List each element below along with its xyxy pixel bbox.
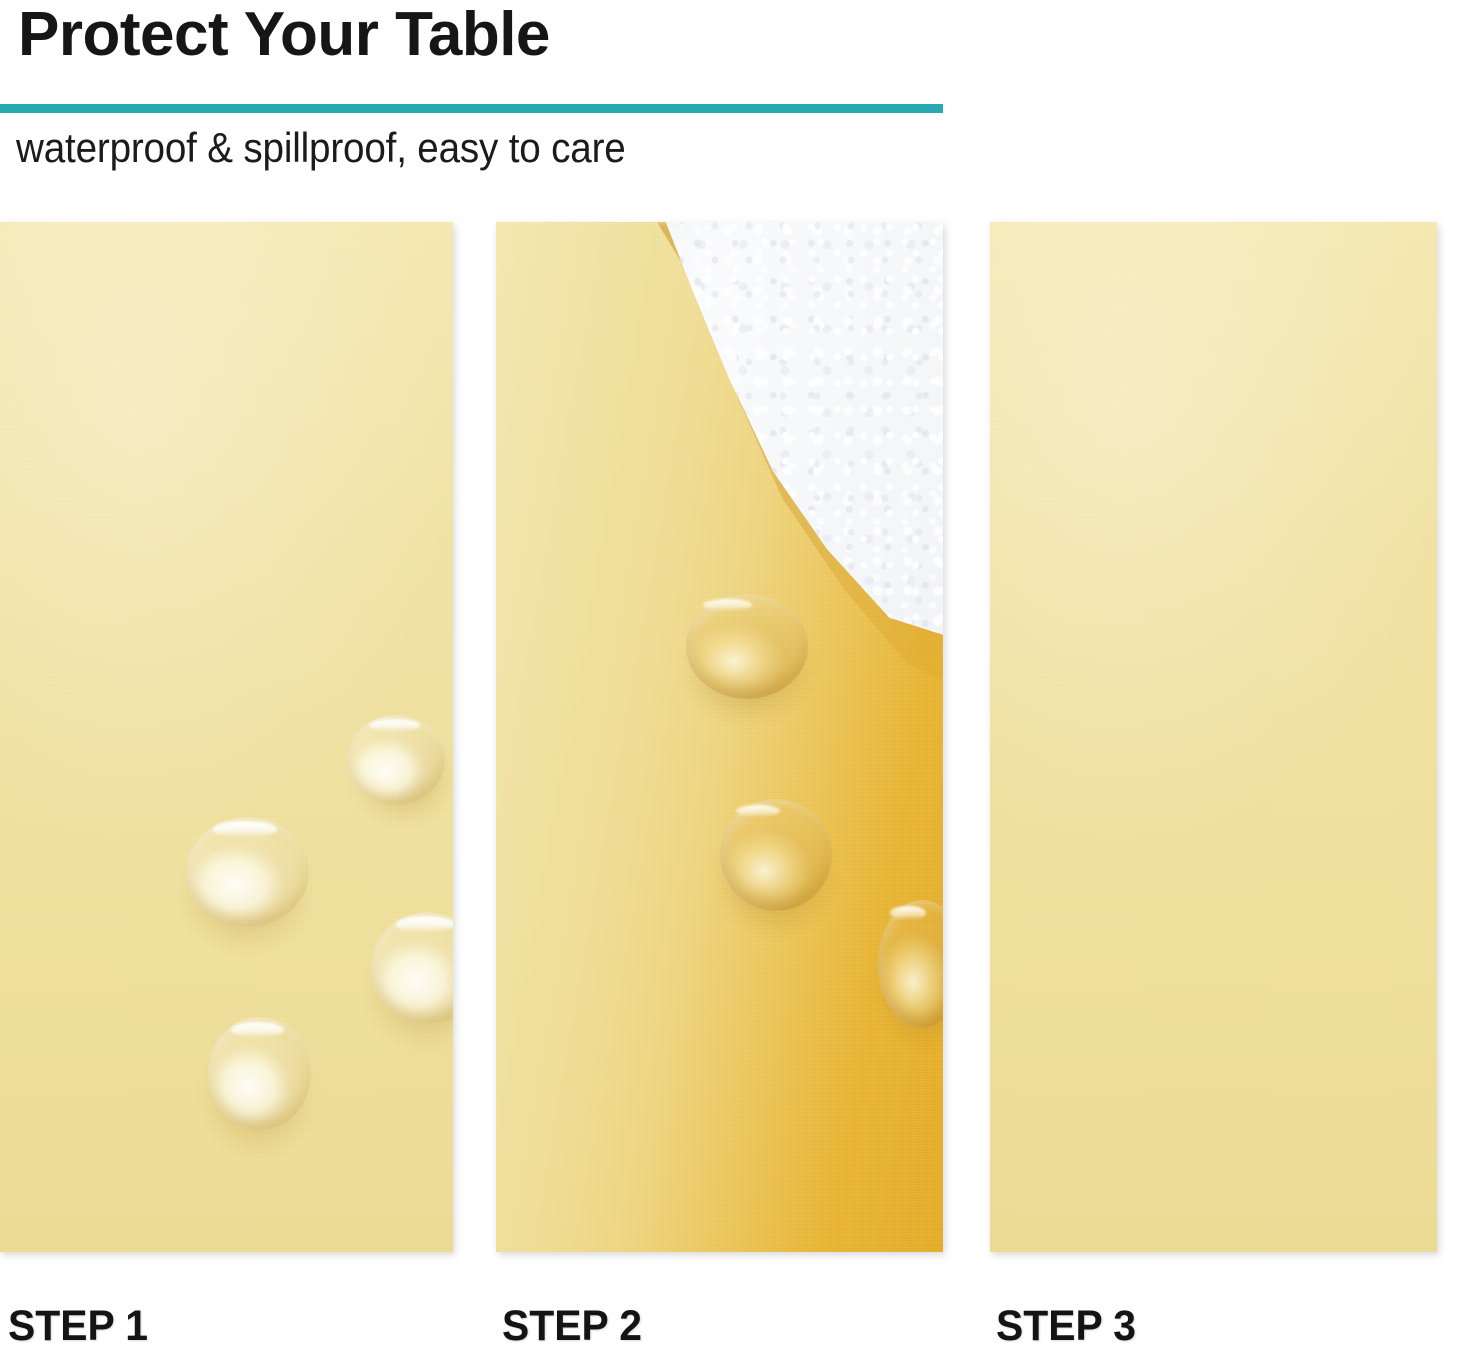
step-3-label: STEP 3 [996,1302,1136,1351]
header: Protect Your Table waterproof & spillpro… [0,0,1458,222]
page-subtitle: waterproof & spillproof, easy to care [16,124,626,172]
water-droplet [720,799,832,911]
step-2-image [496,222,943,1252]
step-2-label: STEP 2 [502,1302,642,1351]
fabric-sheen [990,222,1437,1252]
water-droplet [686,594,808,699]
title-divider-rule [0,104,943,113]
step-1-image [0,222,453,1252]
water-droplet [186,817,309,927]
water-droplet [208,1017,311,1130]
step-1-label: STEP 1 [8,1302,148,1351]
step-labels: STEP 1 STEP 2 STEP 3 [0,1252,1458,1363]
step-3-image [990,222,1437,1252]
page-title: Protect Your Table [18,2,550,67]
step-image-strip [0,222,1458,1252]
water-droplet [347,715,445,805]
